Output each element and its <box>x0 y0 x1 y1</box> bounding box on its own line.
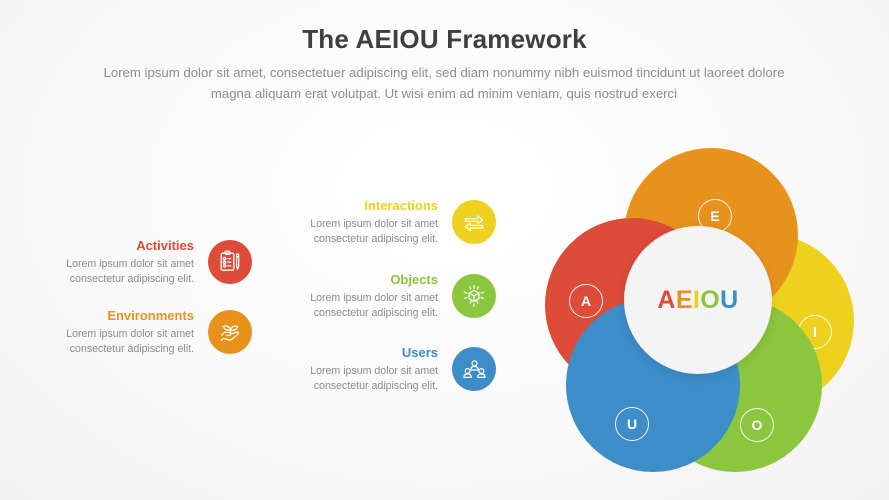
feature-text-objects: Objects Lorem ipsum dolor sit amet conse… <box>310 272 452 320</box>
aeiou-center-label: AEIOU <box>657 288 738 313</box>
feature-body-interactions: Lorem ipsum dolor sit amet consectetur a… <box>310 217 438 246</box>
petal-letter-a: A <box>569 284 603 318</box>
accent-bar-segment-green <box>468 114 514 121</box>
feature-body-objects: Lorem ipsum dolor sit amet consectetur a… <box>310 291 438 320</box>
feature-badge-interactions[interactable] <box>452 200 496 244</box>
feature-badge-activities[interactable] <box>208 240 252 284</box>
feature-text-environments: Environments Lorem ipsum dolor sit amet … <box>66 308 208 356</box>
clipboard-checklist-icon <box>217 249 243 275</box>
feature-heading-objects: Objects <box>310 272 438 288</box>
petal-letter-o: O <box>740 408 774 442</box>
page-subtitle: Lorem ipsum dolor sit amet, consectetuer… <box>94 62 794 104</box>
feature-item-objects[interactable]: Objects Lorem ipsum dolor sit amet conse… <box>272 272 496 320</box>
feature-heading-users: Users <box>310 345 438 361</box>
center-letter-a: A <box>657 286 675 314</box>
center-letter-o: O <box>700 286 720 314</box>
accent-bar-segment-orange <box>377 114 423 121</box>
aeiou-flower-diagram: I O E A U AEIOU <box>528 138 870 468</box>
center-letter-u: U <box>720 286 738 314</box>
feature-text-activities: Activities Lorem ipsum dolor sit amet co… <box>66 238 208 286</box>
exchange-arrows-icon <box>460 208 488 236</box>
feature-badge-environments[interactable] <box>208 310 252 354</box>
accent-bar-segment-red <box>331 114 377 121</box>
feature-text-users: Users Lorem ipsum dolor sit amet consect… <box>310 345 452 393</box>
shining-cube-icon <box>460 282 488 310</box>
feature-heading-activities: Activities <box>66 238 194 254</box>
people-group-icon <box>461 356 488 383</box>
feature-body-environments: Lorem ipsum dolor sit amet consectetur a… <box>66 327 194 356</box>
center-letter-e: E <box>676 286 693 314</box>
accent-bar-segment-yellow <box>422 114 468 121</box>
feature-body-users: Lorem ipsum dolor sit amet consectetur a… <box>310 364 438 393</box>
accent-color-bar <box>331 114 559 121</box>
feature-body-activities: Lorem ipsum dolor sit amet consectetur a… <box>66 257 194 286</box>
feature-badge-users[interactable] <box>452 347 496 391</box>
feature-heading-environments: Environments <box>66 308 194 324</box>
page-title: The AEIOU Framework <box>0 24 889 55</box>
feature-badge-objects[interactable] <box>452 274 496 318</box>
feature-text-interactions: Interactions Lorem ipsum dolor sit amet … <box>310 198 452 246</box>
hand-leaf-icon <box>217 319 244 346</box>
feature-heading-interactions: Interactions <box>310 198 438 214</box>
feature-item-users[interactable]: Users Lorem ipsum dolor sit amet consect… <box>272 345 496 393</box>
slide-canvas: The AEIOU Framework Lorem ipsum dolor si… <box>0 0 889 500</box>
accent-bar-segment-blue <box>513 114 559 121</box>
aeiou-center-hub[interactable]: AEIOU <box>624 226 772 374</box>
petal-letter-u: U <box>615 407 649 441</box>
feature-item-environments[interactable]: Environments Lorem ipsum dolor sit amet … <box>22 308 252 356</box>
feature-item-activities[interactable]: Activities Lorem ipsum dolor sit amet co… <box>22 238 252 286</box>
feature-item-interactions[interactable]: Interactions Lorem ipsum dolor sit amet … <box>272 198 496 246</box>
